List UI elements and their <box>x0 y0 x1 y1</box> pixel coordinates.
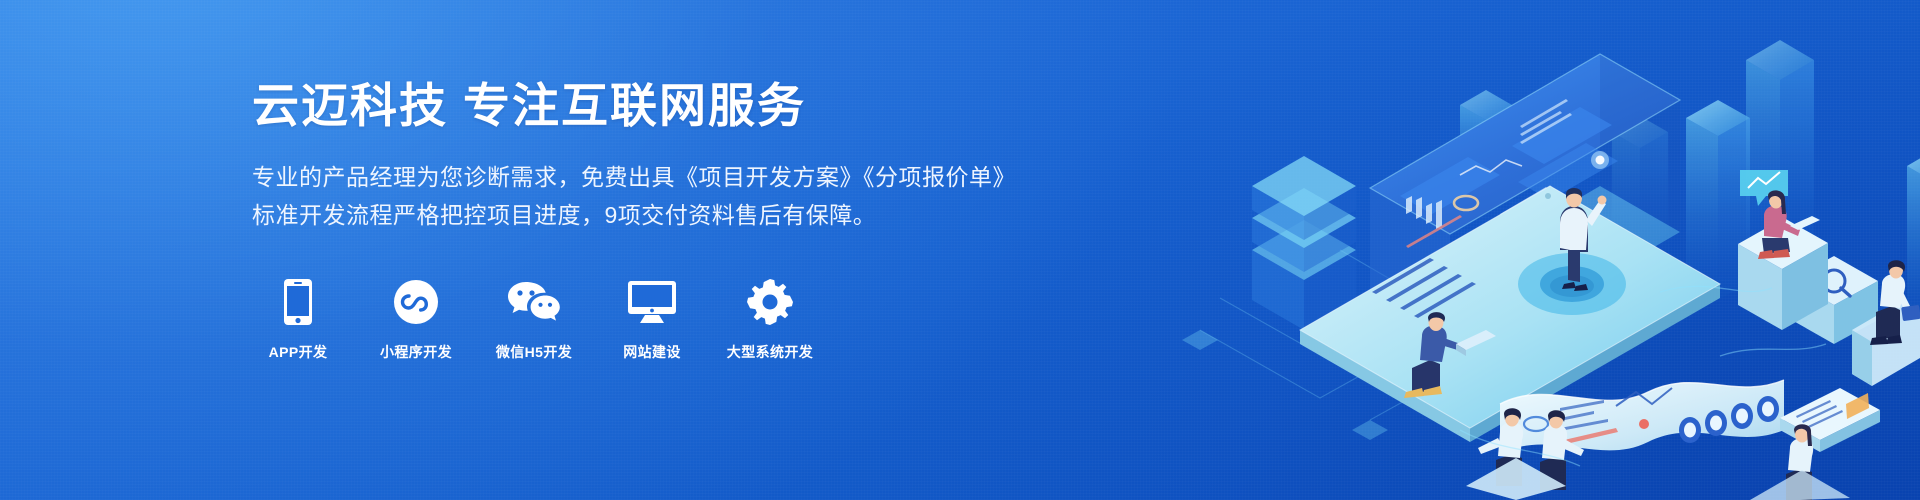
monitor-icon <box>627 276 677 328</box>
page-title: 云迈科技 专注互联网服务 <box>252 78 1016 133</box>
subtitle-line-1: 专业的产品经理为您诊断需求，免费出具《项目开发方案》《分项报价单》 <box>252 159 1016 196</box>
service-list: APP开发 小程序开发 <box>252 276 1016 362</box>
hero-banner: 云迈科技 专注互联网服务 专业的产品经理为您诊断需求，免费出具《项目开发方案》《… <box>0 0 1920 500</box>
service-label: 网站建设 <box>623 342 681 362</box>
server-stack <box>1252 156 1356 330</box>
wechat-icon <box>507 276 561 328</box>
subtitle-line-2: 标准开发流程严格把控项目进度，9项交付资料售后有保障。 <box>252 197 1016 234</box>
mobile-phone-icon <box>283 276 313 328</box>
service-label: 微信H5开发 <box>496 342 572 362</box>
mini-program-icon <box>393 276 439 328</box>
service-item-wechat-h5[interactable]: 微信H5开发 <box>488 276 580 362</box>
hero-content: 云迈科技 专注互联网服务 专业的产品经理为您诊断需求，免费出具《项目开发方案》《… <box>252 78 1016 362</box>
service-label: 小程序开发 <box>380 342 452 362</box>
service-item-website[interactable]: 网站建设 <box>606 276 698 362</box>
hero-illustration <box>900 0 1920 500</box>
service-item-mini-program[interactable]: 小程序开发 <box>370 276 462 362</box>
service-item-large-system[interactable]: 大型系统开发 <box>724 276 816 362</box>
gear-icon <box>747 276 793 328</box>
service-label: 大型系统开发 <box>727 342 813 362</box>
service-label: APP开发 <box>269 342 328 362</box>
service-item-app[interactable]: APP开发 <box>252 276 344 362</box>
